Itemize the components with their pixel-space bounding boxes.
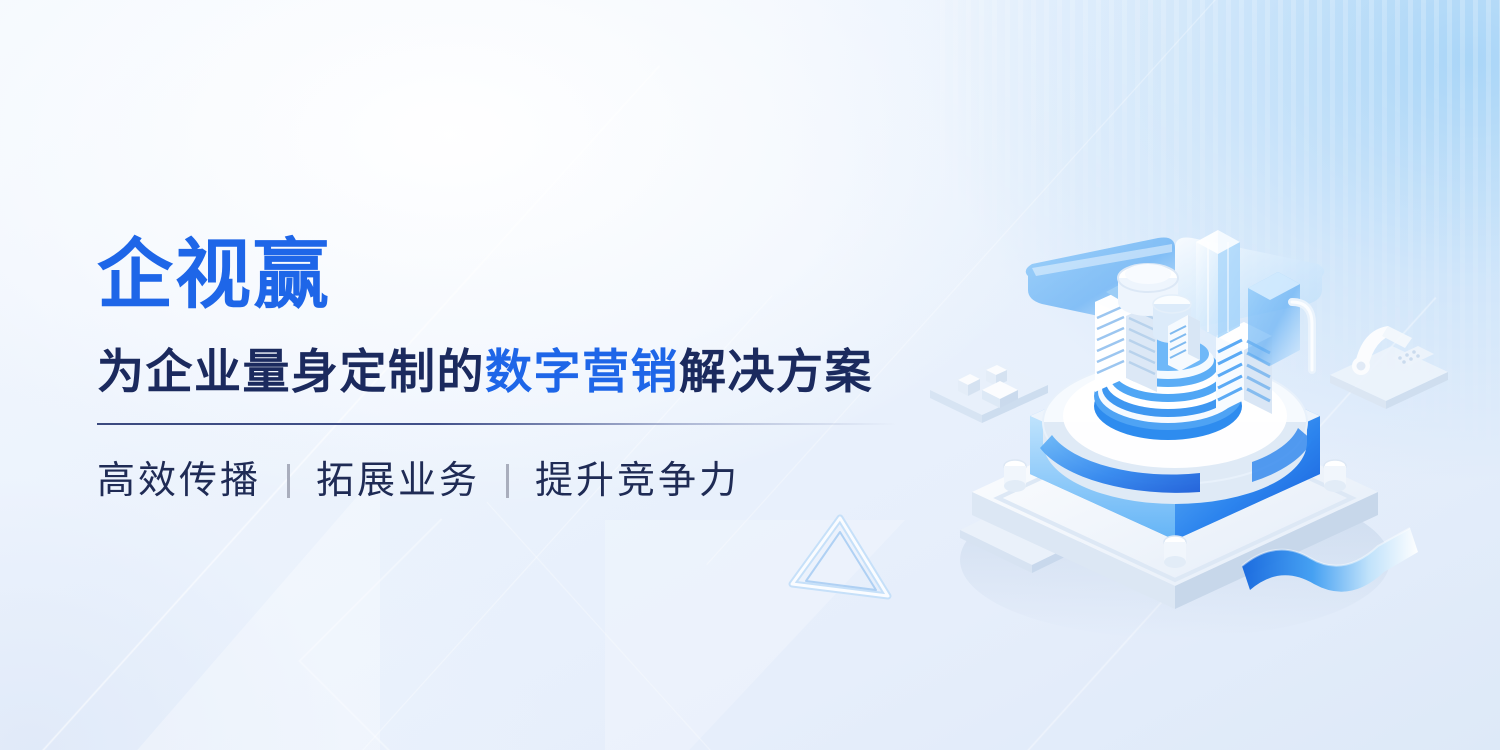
corner-pin (1324, 460, 1346, 492)
side-building-tile (930, 361, 1048, 423)
tagline-item-2: 拓展业务 (316, 459, 480, 505)
glass-slab (1248, 272, 1300, 366)
headline-suffix: 解决方案 (679, 345, 873, 398)
triangle-shape (290, 30, 470, 250)
headline: 为企业量身定制的数字营销解决方案 (97, 346, 927, 399)
corner-pin (1004, 460, 1026, 492)
robot-arm-tile (1330, 326, 1448, 409)
banner-text-block: 企视赢 为企业量身定制的数字营销解决方案 高效传播 拓展业务 提升竞争力 (97, 238, 927, 504)
glass-triangle (792, 518, 888, 596)
headline-highlight: 数字营销 (485, 345, 679, 398)
tagline-separator (506, 464, 509, 498)
corner-pin (1164, 536, 1186, 568)
brand-title: 企视赢 (97, 238, 927, 314)
headline-divider-rule (97, 423, 897, 425)
isometric-illustration (900, 230, 1460, 660)
tagline-item-1: 高效传播 (97, 459, 261, 505)
glass-tower (1196, 230, 1240, 338)
triangle-shape (120, 470, 380, 750)
chevron-outline-shape (298, 518, 584, 750)
tagline-separator (287, 464, 290, 498)
marketing-banner: 企视赢 为企业量身定制的数字营销解决方案 高效传播 拓展业务 提升竞争力 (0, 0, 1500, 750)
tagline-row: 高效传播 拓展业务 提升竞争力 (97, 459, 927, 505)
tagline-item-3: 提升竞争力 (535, 459, 740, 505)
building-ribbed-block (1168, 315, 1200, 371)
headline-prefix: 为企业量身定制的 (97, 345, 485, 398)
